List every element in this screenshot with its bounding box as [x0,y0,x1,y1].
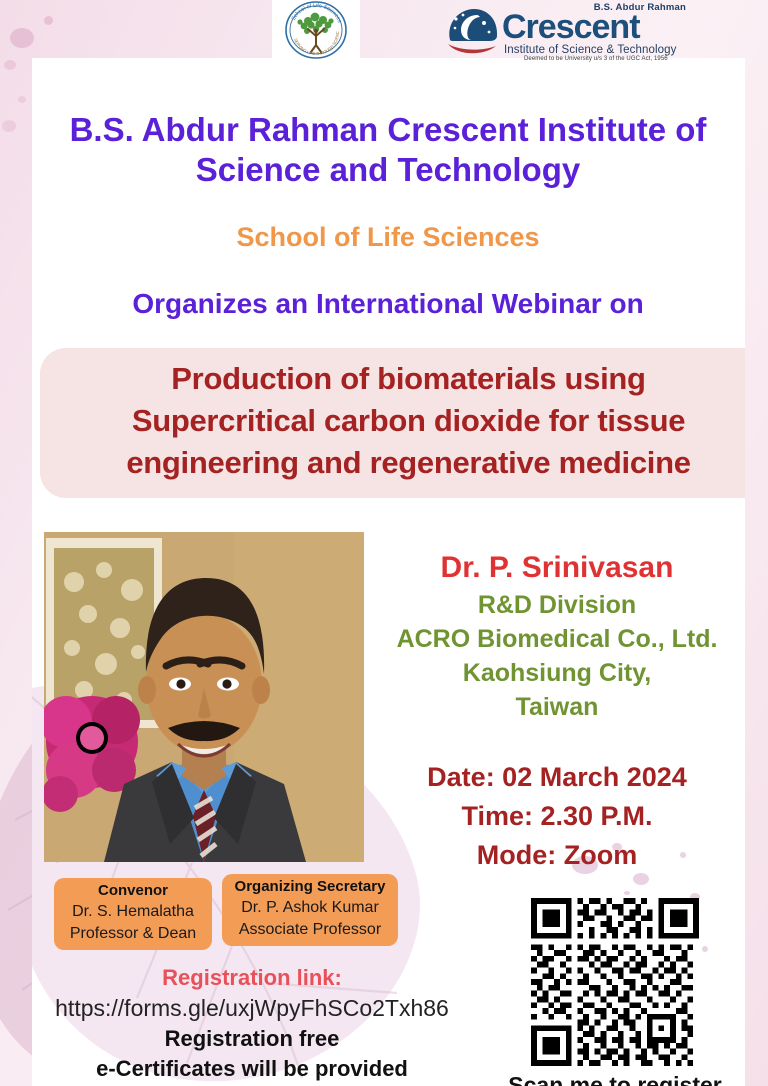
webinar-title-band: Production of biomaterials using Supercr… [40,348,745,498]
crescent-accreditation: Deemed to be University u/s 3 of the UGC… [524,56,668,62]
qr-caption: Scan me to register [500,1072,730,1086]
school-of-life-sciences-logo: School of Life Sciences SERVING LIFE THR… [272,0,360,60]
convenor-designation: Professor & Dean [62,923,204,945]
speaker-details: Dr. P. Srinivasan R&D Division ACRO Biom… [372,548,742,724]
e-certificates-note: e-Certificates will be provided [32,1054,472,1084]
webinar-title-line1: Production of biomaterials using [44,358,745,400]
registration-block: Registration link: https://forms.gle/uxj… [32,964,472,1084]
secretary-role: Organizing Secretary [230,877,390,897]
event-mode: Mode: Zoom [372,836,742,875]
registration-label: Registration link: [32,964,472,992]
logo-bar: School of Life Sciences SERVING LIFE THR… [0,0,768,60]
organizer-chips: Convenor Dr. S. Hemalatha Professor & De… [32,874,402,954]
qr-block: Scan me to register [500,898,730,1086]
poster-card: B.S. Abdur Rahman Crescent Institute of … [32,58,745,1086]
crescent-wordmark: Crescent [502,10,640,44]
registration-link[interactable]: https://forms.gle/uxjWpyFhSCo2Txh86 [32,992,472,1024]
speaker-photo [44,532,364,862]
speaker-affiliation-0: R&D Division [372,588,742,622]
event-details: Date: 02 March 2024 Time: 2.30 P.M. Mode… [372,758,742,875]
crescent-institute-logo: B.S. Abdur Rahman Crescent Institute of … [444,2,692,60]
convenor-name: Dr. S. Hemalatha [62,901,204,923]
registration-free-note: Registration free [32,1024,472,1054]
event-time: Time: 2.30 P.M. [372,797,742,836]
organizes-line: Organizes an International Webinar on [52,288,724,320]
page-title: B.S. Abdur Rahman Crescent Institute of … [68,110,708,190]
organizing-secretary-chip: Organizing Secretary Dr. P. Ashok Kumar … [222,874,398,946]
speaker-affiliation-2: Kaohsiung City, [372,656,742,690]
convenor-chip: Convenor Dr. S. Hemalatha Professor & De… [54,878,212,950]
qr-code-icon[interactable] [531,898,699,1066]
secretary-name: Dr. P. Ashok Kumar [230,897,390,919]
webinar-title-line3: engineering and regenerative medicine [44,442,745,484]
crescent-subtitle: Institute of Science & Technology [504,44,677,56]
webinar-title-line2: Supercritical carbon dioxide for tissue [44,400,745,442]
speaker-name: Dr. P. Srinivasan [372,548,742,588]
school-name: School of Life Sciences [68,222,708,253]
convenor-role: Convenor [62,881,204,901]
institute-name-line1: B.S. Abdur Rahman Crescent Institute of [68,110,708,150]
speaker-affiliation-3: Taiwan [372,690,742,724]
event-date: Date: 02 March 2024 [372,758,742,797]
secretary-designation: Associate Professor [230,919,390,941]
speaker-affiliation-1: ACRO Biomedical Co., Ltd. [372,622,742,656]
crescent-emblem-icon [444,6,500,58]
institute-name-line2: Science and Technology [68,150,708,190]
